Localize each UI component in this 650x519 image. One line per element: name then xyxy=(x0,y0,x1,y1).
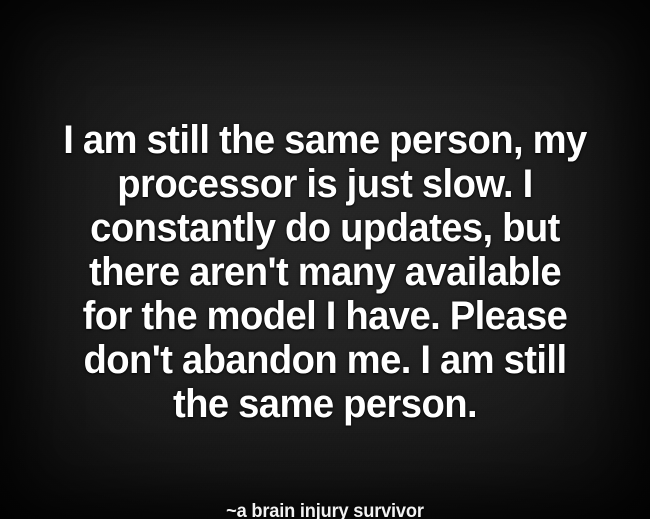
quote-line: constantly do updates, but xyxy=(45,206,605,250)
quote-line: the same person. xyxy=(45,382,605,426)
quote-content: I am still the same person, my processor… xyxy=(0,0,650,519)
quote-image: I am still the same person, my processor… xyxy=(0,0,650,519)
quote-line: I am still the same person, my xyxy=(45,118,605,162)
quote-line: for the model I have. Please xyxy=(45,294,605,338)
quote-line: there aren't many available xyxy=(45,250,605,294)
quote-attribution: ~a brain injury survivor xyxy=(226,500,424,519)
quote-line: don't abandon me. I am still xyxy=(45,338,605,382)
quote-line: processor is just slow. I xyxy=(45,162,605,206)
quote-text: I am still the same person, my processor… xyxy=(45,118,605,426)
